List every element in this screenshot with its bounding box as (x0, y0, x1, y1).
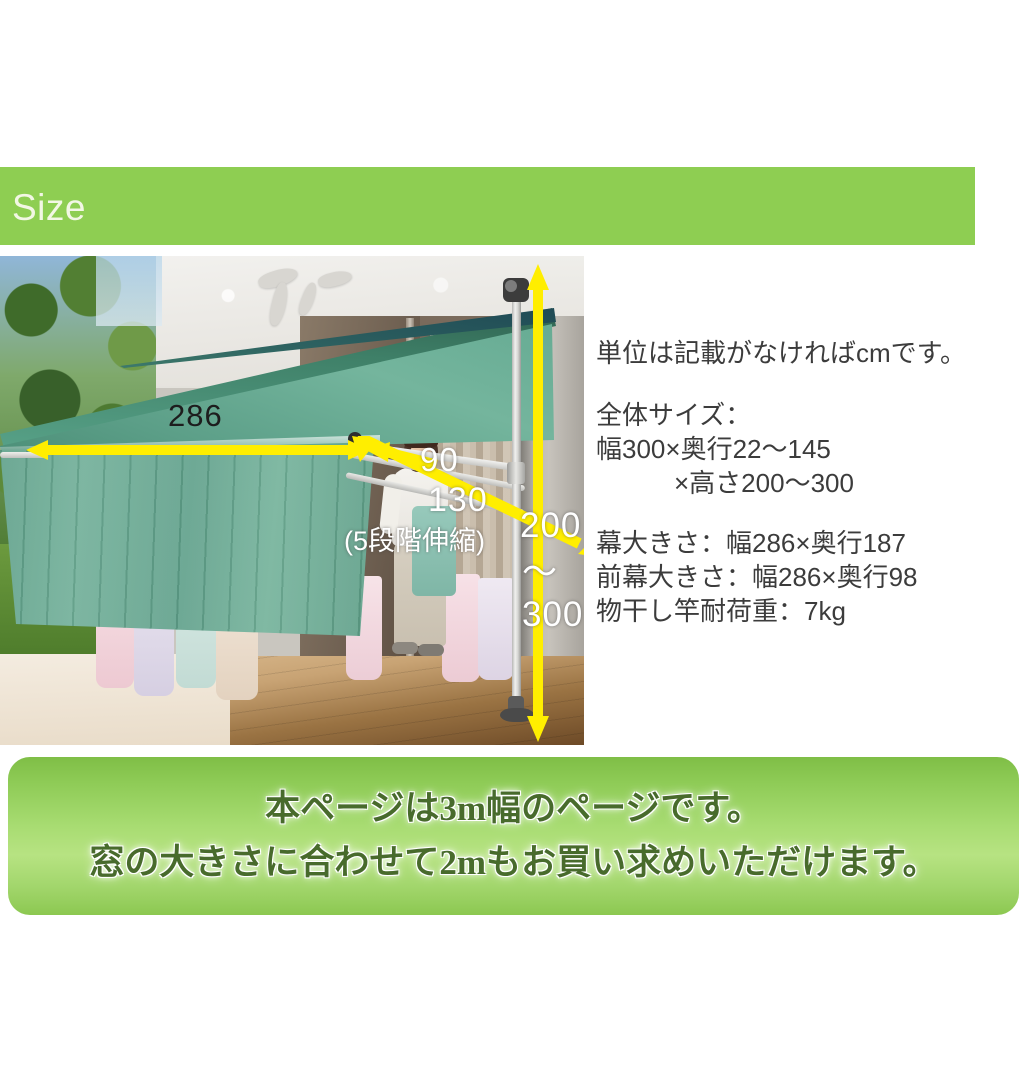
spacer (596, 500, 1020, 526)
spec-canopy-size: 幕大きさ：幅286×奥行187 (596, 526, 1020, 560)
photo-pole-top-knob (505, 280, 517, 292)
height-measure-arrow (524, 264, 552, 742)
annotation-depth-min: 90 (420, 441, 459, 479)
spec-pole-load: 物干し竿耐荷重：7kg (596, 594, 1020, 628)
photo-person-shoe (418, 644, 444, 656)
specifications-block: 単位は記載がなければcmです。 全体サイズ： 幅300×奥行22～145 ×高さ… (596, 336, 1020, 628)
product-photo: 286 90 130 (5段階伸縮) 200 ～300 (0, 256, 584, 745)
annotation-height-max: ～300 (522, 544, 584, 635)
spec-unit-note: 単位は記載がなければcmです。 (596, 336, 1020, 370)
annotation-steps-note: (5段階伸縮) (344, 519, 485, 558)
size-section-header: Size (0, 167, 975, 245)
banner-line-1: 本ページは3m幅のページです。 (265, 782, 762, 836)
width-notice-banner: 本ページは3m幅のページです。 窓の大きさに合わせて2mもお買い求めいただけます… (8, 757, 1019, 915)
spec-overall-line1: 幅300×奥行22～145 (596, 432, 1020, 466)
photo-hanging-cloth (478, 578, 514, 680)
photo-sky (96, 256, 162, 326)
photo-awning-front-folds (0, 446, 374, 636)
banner-line-2: 窓の大きさに合わせて2mもお買い求めいただけます。 (89, 836, 937, 890)
photo-person-shoe (392, 642, 418, 654)
annotation-height-min: 200 (520, 506, 581, 546)
spec-front-canopy-size: 前幕大きさ：幅286×奥行98 (596, 560, 1020, 594)
page-title: Size (12, 188, 86, 228)
width-measure-arrow (26, 439, 370, 461)
annotation-depth-max: 130 (428, 481, 488, 520)
spec-overall-line2: ×高さ200～300 (596, 466, 1020, 500)
spec-overall-heading: 全体サイズ： (596, 398, 1020, 432)
spacer (596, 370, 1020, 398)
annotation-width: 286 (168, 398, 223, 434)
